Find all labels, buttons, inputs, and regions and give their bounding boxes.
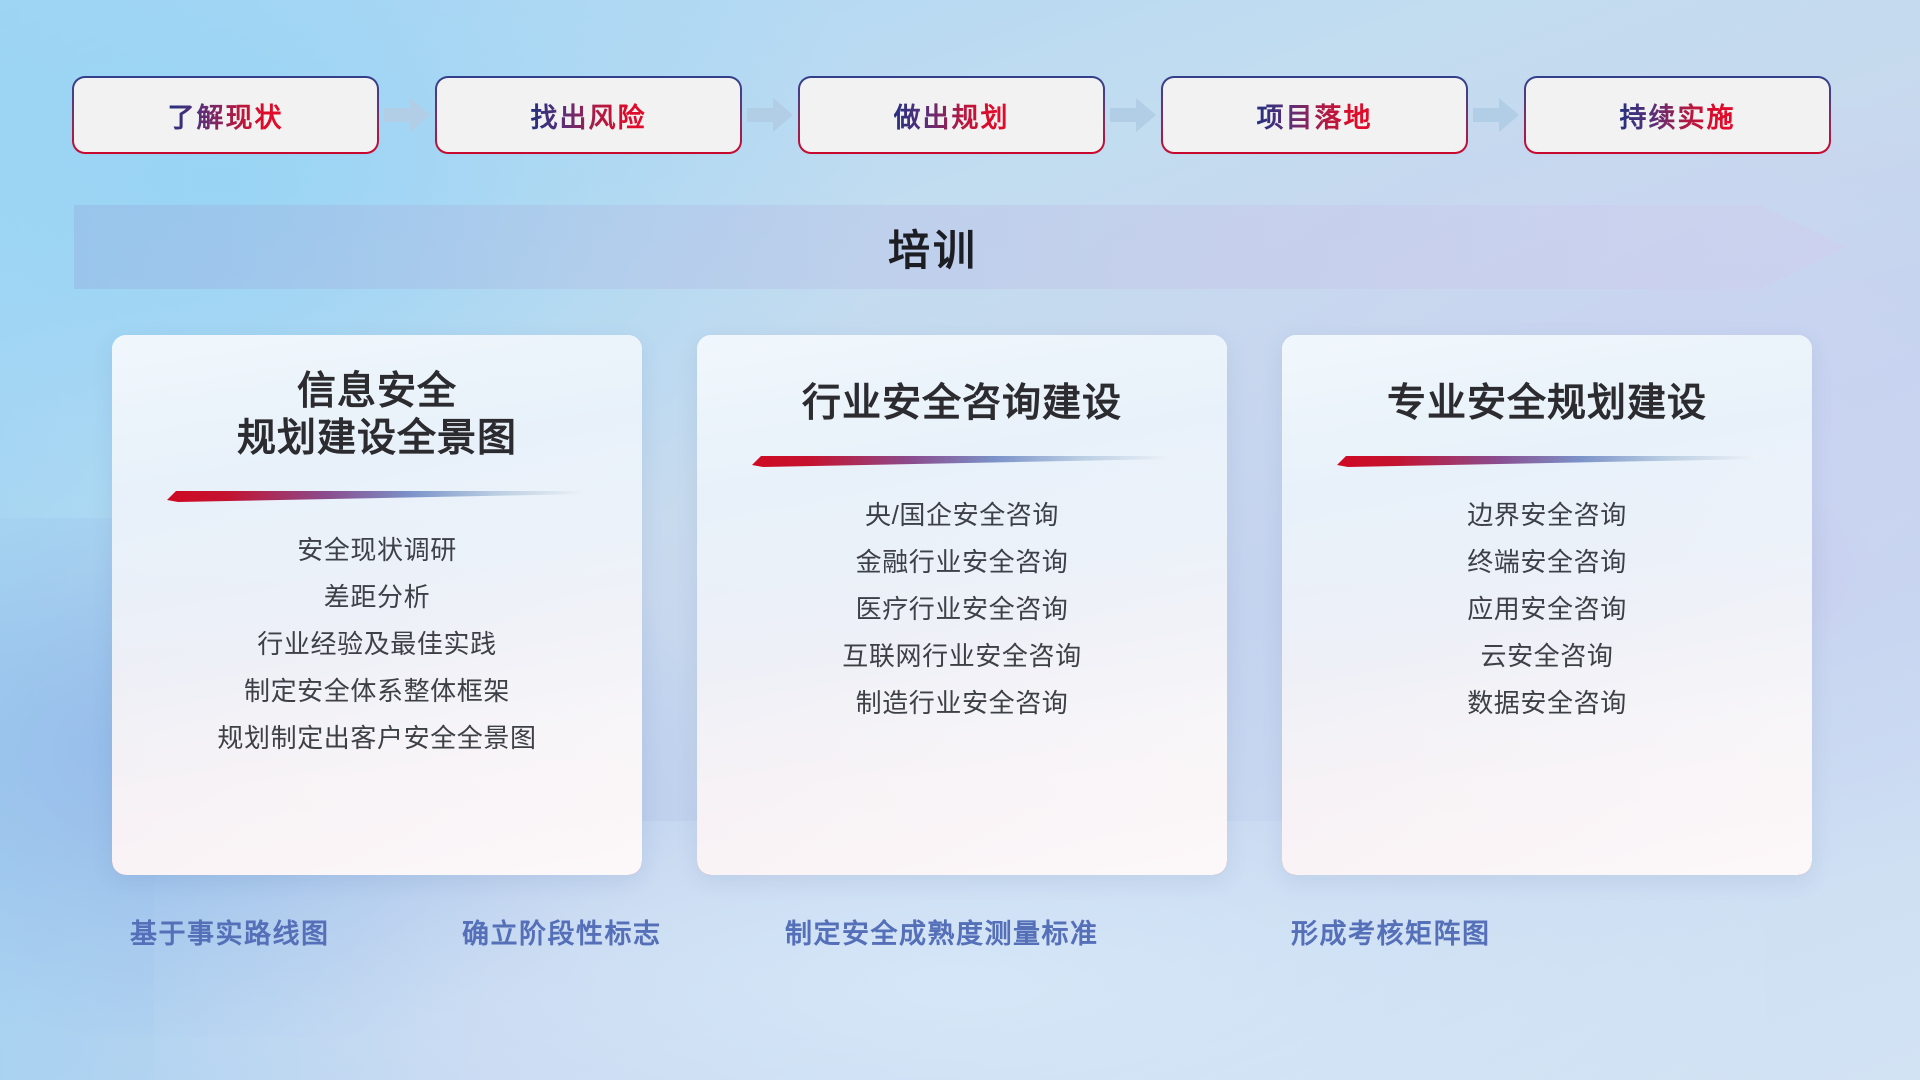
card-professional-security-planning[interactable]: 专业安全规划建设 bbox=[1282, 335, 1812, 875]
process-step-1[interactable]: 找出风险 bbox=[437, 78, 740, 152]
process-step-label: 项目落地 bbox=[1257, 96, 1373, 135]
card-item-list: 安全现状调研 差距分析 行业经验及最佳实践 制定安全体系整体框架 规划制定出客户… bbox=[112, 527, 642, 762]
list-item: 规划制定出客户安全全景图 bbox=[217, 715, 536, 762]
card-item-list: 边界安全咨询 终端安全咨询 应用安全咨询 云安全咨询 数据安全咨询 bbox=[1282, 492, 1812, 727]
card-title: 行业安全咨询建设 bbox=[782, 381, 1142, 428]
list-item: 制造行业安全咨询 bbox=[856, 680, 1069, 727]
card-item-list: 央/国企安全咨询 金融行业安全咨询 医疗行业安全咨询 互联网行业安全咨询 制造行… bbox=[697, 492, 1227, 727]
caption-2: 制定安全成熟度测量标准 bbox=[785, 912, 1099, 951]
process-step-4[interactable]: 持续实施 bbox=[1526, 78, 1829, 152]
caption-3: 形成考核矩阵图 bbox=[1291, 912, 1491, 951]
gradient-divider-icon bbox=[752, 454, 1172, 468]
process-step-0[interactable]: 了解现状 bbox=[74, 78, 377, 152]
list-item: 边界安全咨询 bbox=[1467, 492, 1627, 539]
training-banner: 培训 bbox=[74, 205, 1846, 289]
process-step-label: 做出规划 bbox=[894, 96, 1010, 135]
list-item: 医疗行业安全咨询 bbox=[856, 586, 1069, 633]
right-arrow-icon bbox=[740, 78, 800, 152]
process-step-3[interactable]: 项目落地 bbox=[1163, 78, 1466, 152]
card-information-security[interactable]: 信息安全 规划建设全景图 bbox=[112, 335, 642, 875]
process-step-row: 了解现状 找出风险 做出规划 项目落地 bbox=[74, 78, 1846, 152]
caption-1: 确立阶段性标志 bbox=[462, 912, 662, 951]
card-title-line1: 专业安全规划建设 bbox=[1387, 381, 1707, 428]
card-title-line1: 信息安全 bbox=[237, 369, 517, 416]
list-item: 差距分析 bbox=[324, 574, 430, 621]
card-title-line2: 规划建设全景图 bbox=[237, 416, 517, 463]
list-item: 金融行业安全咨询 bbox=[856, 539, 1069, 586]
list-item: 数据安全咨询 bbox=[1467, 680, 1627, 727]
list-item: 应用安全咨询 bbox=[1467, 586, 1627, 633]
right-arrow-icon bbox=[1466, 78, 1526, 152]
card-title: 信息安全 规划建设全景图 bbox=[217, 369, 537, 463]
list-item: 制定安全体系整体框架 bbox=[244, 668, 510, 715]
caption-0: 基于事实路线图 bbox=[130, 912, 330, 951]
process-step-2[interactable]: 做出规划 bbox=[800, 78, 1103, 152]
list-item: 互联网行业安全咨询 bbox=[842, 633, 1081, 680]
card-title: 专业安全规划建设 bbox=[1367, 381, 1727, 428]
card-industry-security-consulting[interactable]: 行业安全咨询建设 bbox=[697, 335, 1227, 875]
list-item: 云安全咨询 bbox=[1480, 633, 1613, 680]
diagram-stage: 了解现状 找出风险 做出规划 项目落地 bbox=[0, 0, 1920, 1080]
list-item: 终端安全咨询 bbox=[1467, 539, 1627, 586]
card-row: 信息安全 规划建设全景图 bbox=[112, 335, 1812, 875]
process-step-label: 找出风险 bbox=[531, 96, 647, 135]
right-arrow-icon bbox=[1103, 78, 1163, 152]
caption-row: 基于事实路线图 确立阶段性标志 制定安全成熟度测量标准 形成考核矩阵图 bbox=[0, 912, 1920, 962]
list-item: 安全现状调研 bbox=[297, 527, 457, 574]
list-item: 行业经验及最佳实践 bbox=[257, 621, 496, 668]
banner-title: 培训 bbox=[74, 205, 1846, 289]
right-arrow-icon bbox=[377, 78, 437, 152]
card-title-line1: 行业安全咨询建设 bbox=[802, 381, 1122, 428]
list-item: 央/国企安全咨询 bbox=[865, 492, 1059, 539]
gradient-divider-icon bbox=[1337, 454, 1757, 468]
process-step-label: 持续实施 bbox=[1620, 96, 1736, 135]
process-step-label: 了解现状 bbox=[168, 96, 284, 135]
gradient-divider-icon bbox=[167, 489, 587, 503]
